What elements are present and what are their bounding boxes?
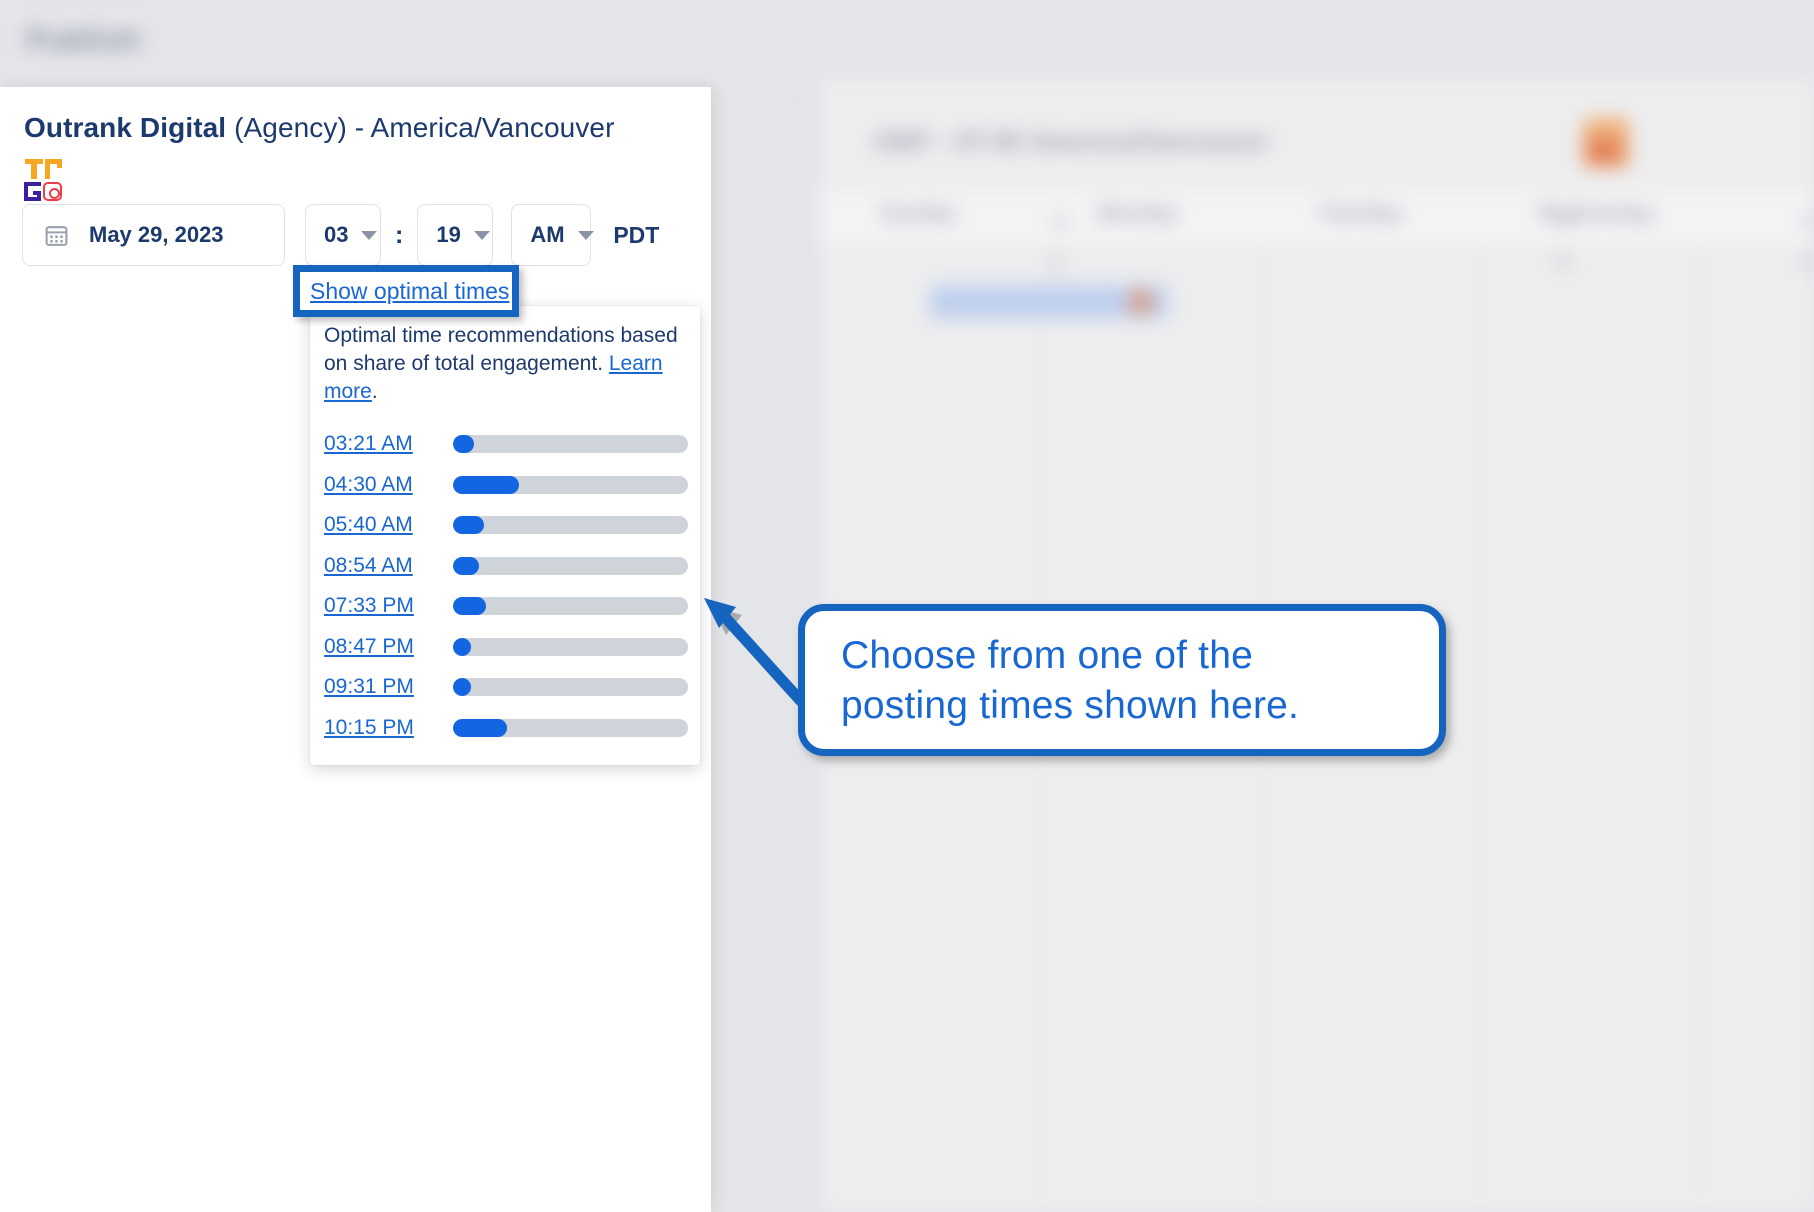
engagement-bar-track xyxy=(453,597,688,615)
callout-bubble: Choose from one of the posting times sho… xyxy=(798,604,1446,756)
show-optimal-times-link[interactable]: Show optimal times xyxy=(310,278,509,305)
list-item[interactable]: 08:54 AM xyxy=(310,546,700,587)
list-item[interactable]: 03:21 AM xyxy=(310,424,700,465)
twitter-icon-r xyxy=(45,159,62,179)
optimal-times-description: Optimal time recommendations based on sh… xyxy=(324,322,684,406)
hour-select[interactable]: 03 xyxy=(305,204,381,266)
ampm-select[interactable]: AM xyxy=(511,204,591,266)
engagement-bar-track xyxy=(453,435,688,453)
chevron-down-icon xyxy=(474,231,490,240)
app-topbar xyxy=(0,0,1814,78)
date-field[interactable]: May 29, 2023 xyxy=(22,204,285,266)
minute-select[interactable]: 19 xyxy=(417,204,493,266)
description-period: . xyxy=(372,380,378,403)
timezone-label: PDT xyxy=(613,222,659,249)
engagement-bar-fill xyxy=(453,678,471,696)
time-separator: : xyxy=(395,221,403,250)
optimal-time-link[interactable]: 08:54 AM xyxy=(324,554,438,578)
list-item[interactable]: 04:30 AM xyxy=(310,465,700,506)
calendar-day-sunday: Sunday xyxy=(880,202,956,226)
chevron-down-icon xyxy=(578,231,594,240)
optimal-times-dropdown: Optimal time recommendations based on sh… xyxy=(310,306,700,765)
description-line-1: Optimal time recommendations xyxy=(324,324,615,347)
twitter-icon xyxy=(25,159,43,179)
optimal-time-link[interactable]: 07:33 PM xyxy=(324,594,438,618)
calendar-day-monday: Monday xyxy=(1098,202,1177,226)
engagement-bar-fill xyxy=(453,597,486,615)
date-value: May 29, 2023 xyxy=(89,222,224,248)
calendar-day-tuesday: Tuesday xyxy=(1318,202,1402,226)
list-item[interactable]: 05:40 AM xyxy=(310,505,700,546)
calendar-date-number: 29 xyxy=(1556,212,1576,233)
calendar-cell-marker xyxy=(1555,252,1571,270)
engagement-bar-fill xyxy=(453,435,474,453)
engagement-bar-fill xyxy=(453,516,484,534)
calendar-day-strip xyxy=(820,188,1814,248)
engagement-bar-fill xyxy=(453,476,519,494)
engagement-bar-track xyxy=(453,516,688,534)
engagement-bar-track xyxy=(453,638,688,656)
callout-text: Choose from one of the posting times sho… xyxy=(841,631,1421,731)
google-business-icon xyxy=(24,182,41,201)
list-item[interactable]: 07:33 PM xyxy=(310,586,700,627)
calendar-date-number: 28 xyxy=(1050,212,1070,233)
optimal-time-link[interactable]: 10:15 PM xyxy=(324,716,438,740)
list-item[interactable]: 10:15 PM xyxy=(310,708,700,749)
optimal-time-link[interactable]: 03:21 AM xyxy=(324,432,438,456)
engagement-bar-track xyxy=(453,557,688,575)
engagement-bar-fill xyxy=(453,557,479,575)
ampm-value: AM xyxy=(530,222,564,248)
calendar-cell-marker xyxy=(1050,252,1062,274)
list-item[interactable]: 08:47 PM xyxy=(310,627,700,668)
engagement-bar-track xyxy=(453,678,688,696)
calendar-event-avatar xyxy=(1128,289,1154,315)
calendar-column-divider xyxy=(1482,246,1483,1212)
engagement-bar-fill xyxy=(453,719,507,737)
minute-value: 19 xyxy=(436,222,460,248)
account-name: Outrank Digital xyxy=(24,112,226,143)
callout-line-2: posting times shown here. xyxy=(841,681,1421,731)
optimal-time-link[interactable]: 04:30 AM xyxy=(324,473,438,497)
account-timezone-suffix: (Agency) - America/Vancouver xyxy=(226,112,614,143)
calendar-column-divider xyxy=(1700,246,1701,1212)
instagram-icon xyxy=(43,182,62,201)
optimal-time-link[interactable]: 08:47 PM xyxy=(324,635,438,659)
calendar-icon xyxy=(44,223,69,248)
social-network-icons xyxy=(24,159,70,203)
engagement-bar-track xyxy=(453,719,688,737)
calendar-cell-marker xyxy=(1800,252,1814,272)
app-title: Publish xyxy=(26,22,141,58)
calendar-timezone-header: GMT - 07:00 America/Vancouver xyxy=(875,128,1269,157)
callout-line-1: Choose from one of the xyxy=(841,631,1421,681)
optimal-time-link[interactable]: 05:40 AM xyxy=(324,513,438,537)
page-title: Outrank Digital (Agency) - America/Vanco… xyxy=(24,112,615,144)
hour-value: 03 xyxy=(324,222,348,248)
list-item[interactable]: 09:31 PM xyxy=(310,667,700,708)
engagement-bar-track xyxy=(453,476,688,494)
engagement-bar-fill xyxy=(453,638,471,656)
optimal-times-list: 03:21 AM 04:30 AM 05:40 AM 08:54 AM 07:3… xyxy=(310,424,700,748)
calendar-date-number: 30 xyxy=(1800,212,1814,233)
datetime-controls: May 29, 2023 03 : 19 AM PDT xyxy=(22,204,659,266)
optimal-time-link[interactable]: 09:31 PM xyxy=(324,675,438,699)
chevron-down-icon xyxy=(361,231,377,240)
avatar-inner xyxy=(1586,138,1622,164)
